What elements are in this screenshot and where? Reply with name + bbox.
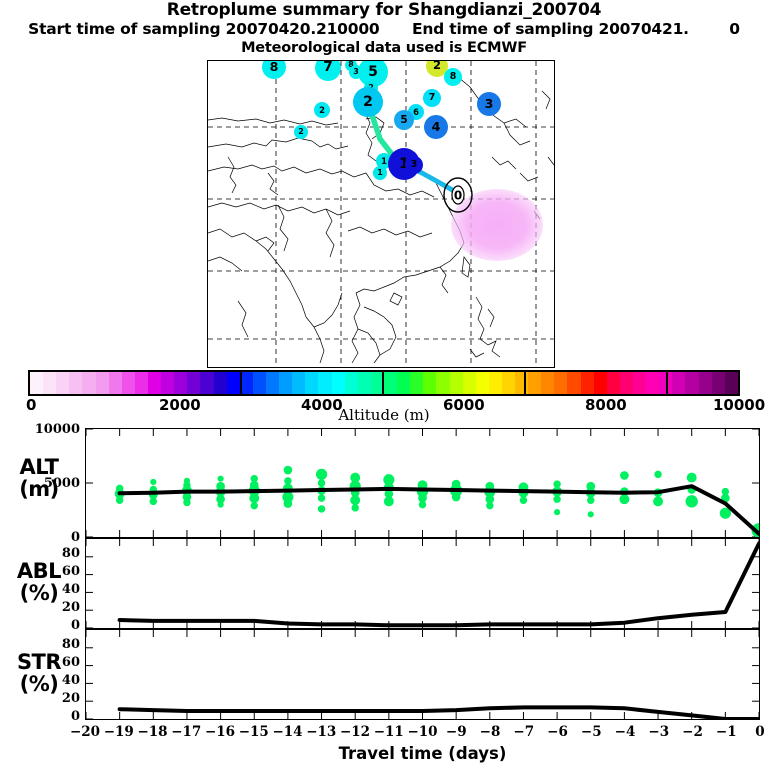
plume-marker-label: 2 [298, 128, 304, 136]
plume-marker-label: 3 [411, 160, 418, 169]
colorbar-swatch-19 [279, 372, 292, 394]
colorbar-swatch-30 [423, 372, 436, 394]
colorbar-swatch-40 [554, 372, 567, 394]
colorbar-swatch-13 [200, 372, 213, 394]
colorbar-swatch-36 [502, 372, 515, 394]
x-tick-label: −13 [304, 724, 338, 740]
colorbar-swatch-28 [397, 372, 410, 394]
abl-ytick-80: 80 [20, 546, 80, 561]
end-time-value: 0 [729, 20, 740, 38]
colorbar-swatch-33 [463, 372, 476, 394]
alt-scatter-point [218, 502, 224, 508]
x-tick-label: −3 [642, 724, 676, 740]
plume-marker-label: 2 [433, 60, 441, 72]
alt-scatter-point [687, 473, 697, 483]
colorbar-swatch-18 [266, 372, 279, 394]
colorbar-swatch-45 [620, 372, 633, 394]
colorbar-swatch-10 [161, 372, 174, 394]
release-point-label: 0 [454, 189, 462, 201]
plume-marker-label: 3 [485, 98, 494, 111]
abl-ytick-0: 0 [20, 618, 80, 633]
sampling-times: Start time of sampling 20070420.210000 E… [0, 20, 768, 39]
alt-scatter-point [183, 499, 190, 506]
colorbar-swatch-51 [699, 372, 712, 394]
plume-marker[interactable]: 2 [353, 87, 383, 117]
alt-panel-canvas [86, 429, 759, 537]
colorbar-swatch-23 [332, 372, 345, 394]
colorbar-swatch-14 [214, 372, 227, 394]
alt-scatter-point [284, 499, 293, 508]
colorbar-swatch-43 [594, 372, 607, 394]
colorbar-swatch-31 [436, 372, 449, 394]
alt-scatter-point [251, 502, 258, 509]
colorbar-swatch-34 [476, 372, 489, 394]
colorbar-swatch-38 [528, 372, 541, 394]
x-tick-label: −15 [237, 724, 271, 740]
colorbar-swatch-0 [30, 372, 43, 394]
alt-plot-panel[interactable] [85, 428, 760, 538]
alt-scatter-point [587, 497, 594, 504]
plume-marker-label: 1 [377, 169, 383, 177]
colorbar-swatch-12 [187, 372, 200, 394]
plume-marker[interactable]: 3 [405, 156, 423, 174]
colorbar-divider-2000 [240, 370, 242, 396]
retroplume-map[interactable]: 8783452822732654211113 0 [207, 60, 555, 368]
x-tick-label: −4 [608, 724, 642, 740]
str-ytick-0: 0 [20, 709, 80, 724]
x-tick-label: −10 [406, 724, 440, 740]
plume-marker-label: 7 [429, 93, 436, 102]
colorbar-swatch-4 [82, 372, 95, 394]
plume-marker[interactable]: 5 [394, 110, 414, 130]
colorbar-swatch-17 [253, 372, 266, 394]
colorbar-swatch-9 [148, 372, 161, 394]
abl-ytick-20: 20 [20, 600, 80, 615]
colorbar-divider-4000 [382, 370, 384, 396]
abl-panel-trend-line [120, 544, 759, 626]
alt-label-line1: ALT [6, 456, 72, 478]
x-tick-label: −8 [473, 724, 507, 740]
colorbar-swatch-7 [122, 372, 135, 394]
plume-marker[interactable]: 2 [294, 125, 308, 139]
str-panel-trend-line [120, 707, 759, 719]
colorbar-divider-8000 [666, 370, 668, 396]
colorbar-swatch-27 [384, 372, 397, 394]
colorbar-swatch-41 [567, 372, 580, 394]
colorbar-swatch-46 [633, 372, 646, 394]
alt-scatter-point [452, 493, 461, 502]
colorbar-swatch-5 [96, 372, 109, 394]
x-tick-label: −6 [541, 724, 575, 740]
met-data-label: Meteorological data used is ECMWF [0, 39, 768, 57]
plume-marker-label: 7 [323, 61, 333, 75]
colorbar-swatch-35 [489, 372, 502, 394]
x-tick-label: −7 [507, 724, 541, 740]
alt-scatter-point [249, 493, 259, 503]
alt-scatter-point [150, 479, 156, 485]
x-tick-label: −14 [271, 724, 305, 740]
colorbar-divider-6000 [524, 370, 526, 396]
alt-scatter-point [284, 466, 293, 475]
abl-ytick-40: 40 [20, 582, 80, 597]
colorbar-swatch-3 [69, 372, 82, 394]
plume-marker-label: 6 [413, 108, 419, 116]
alt-panel-trend-line [120, 486, 759, 534]
alt-scatter-point [554, 509, 560, 515]
alt-scatter-point [316, 469, 327, 480]
plume-marker-label: 8 [450, 72, 457, 81]
alt-scatter-point [384, 496, 394, 506]
altitude-colorbar [28, 370, 740, 396]
plume-marker-label: 8 [270, 61, 279, 74]
colorbar-swatch-8 [135, 372, 148, 394]
plume-marker[interactable]: 4 [424, 115, 448, 139]
colorbar-swatch-6 [109, 372, 122, 394]
alt-scatter-point [588, 511, 594, 517]
alt-ytick-5000: 5000 [20, 476, 80, 491]
alt-scatter-point [486, 502, 493, 509]
str-ytick-80: 80 [20, 637, 80, 652]
x-tick-label: −1 [709, 724, 743, 740]
abl-ytick-60: 60 [20, 564, 80, 579]
plume-marker-label: 4 [432, 121, 441, 134]
alt-scatter-point [318, 505, 325, 512]
plume-marker[interactable]: 1 [373, 166, 387, 180]
header-block: Retroplume summary for Shangdianzi_20070… [0, 0, 768, 57]
alt-scatter-point [553, 495, 560, 502]
str-ytick-20: 20 [20, 691, 80, 706]
colorbar-swatch-29 [410, 372, 423, 394]
colorbar-swatch-11 [174, 372, 187, 394]
str-ytick-40: 40 [20, 673, 80, 688]
page-title: Retroplume summary for Shangdianzi_20070… [0, 0, 768, 20]
alt-ytick-0: 0 [20, 530, 80, 545]
plume-marker-label: 2 [319, 106, 325, 114]
alt-scatter-point [116, 497, 123, 504]
alt-scatter-point [619, 494, 629, 504]
abl-plot-panel[interactable] [85, 538, 760, 629]
x-tick-label: −16 [203, 724, 237, 740]
colorbar-swatch-1 [43, 372, 56, 394]
x-tick-label: −12 [338, 724, 372, 740]
colorbar-swatch-39 [541, 372, 554, 394]
colorbar-swatch-37 [515, 372, 528, 394]
alt-scatter-point [318, 494, 325, 501]
colorbar-swatch-15 [227, 372, 240, 394]
alt-scatter-point [654, 471, 661, 478]
x-tick-label: −11 [372, 724, 406, 740]
x-tick-label: −18 [136, 724, 170, 740]
str-plot-panel[interactable] [85, 629, 760, 720]
str-ytick-60: 60 [20, 655, 80, 670]
x-tick-label: −2 [676, 724, 710, 740]
abl-panel-canvas [86, 539, 759, 628]
colorbar-swatch-2 [56, 372, 69, 394]
plume-marker[interactable]: 8 [444, 68, 462, 86]
colorbar-swatch-52 [712, 372, 725, 394]
colorbar-swatch-44 [607, 372, 620, 394]
plume-marker-label: 1 [381, 157, 387, 165]
str-panel-canvas [86, 630, 759, 719]
x-axis-title: Travel time (days) [85, 744, 760, 763]
colorbar-swatch-47 [646, 372, 659, 394]
plume-marker[interactable]: 7 [423, 89, 441, 107]
alt-scatter-point [620, 471, 629, 480]
plume-marker[interactable]: 3 [477, 92, 501, 116]
colorbar-swatch-49 [672, 372, 685, 394]
alt-scatter-point [419, 501, 426, 508]
x-tick-label: −9 [439, 724, 473, 740]
plume-marker[interactable]: 2 [314, 102, 330, 118]
x-tick-label: −17 [169, 724, 203, 740]
alt-scatter-point [653, 496, 663, 506]
alt-scatter-point [686, 495, 698, 507]
colorbar-swatch-42 [581, 372, 594, 394]
alt-ytick-10000: 10000 [20, 422, 80, 437]
release-point-marker[interactable]: 0 [458, 195, 459, 196]
colorbar-swatch-50 [685, 372, 698, 394]
colorbar-swatch-20 [292, 372, 305, 394]
end-time-label: End time of sampling 20070421. [412, 20, 689, 38]
colorbar-swatch-21 [305, 372, 318, 394]
colorbar-swatch-24 [345, 372, 358, 394]
x-tick-label: −20 [68, 724, 102, 740]
plume-marker-label: 2 [363, 95, 373, 109]
release-plume-halo [451, 189, 543, 261]
plume-marker-label: 5 [368, 65, 378, 79]
alt-scatter-point [350, 495, 360, 505]
x-tick-label: 0 [743, 724, 768, 740]
alt-scatter-point [351, 504, 358, 511]
x-tick-label: −19 [102, 724, 136, 740]
alt-scatter-point [520, 497, 527, 504]
alt-scatter-point [150, 498, 157, 505]
colorbar-swatch-32 [450, 372, 463, 394]
colorbar-swatch-22 [318, 372, 331, 394]
alt-scatter-point [318, 479, 325, 486]
colorbar-swatch-25 [358, 372, 371, 394]
colorbar-title: Altitude (m) [0, 406, 768, 424]
plume-marker-label: 5 [400, 115, 407, 126]
start-time-label: Start time of sampling 20070420.210000 [28, 20, 379, 38]
alt-scatter-point [218, 476, 224, 482]
colorbar-swatch-53 [725, 372, 738, 394]
x-tick-label: −5 [574, 724, 608, 740]
